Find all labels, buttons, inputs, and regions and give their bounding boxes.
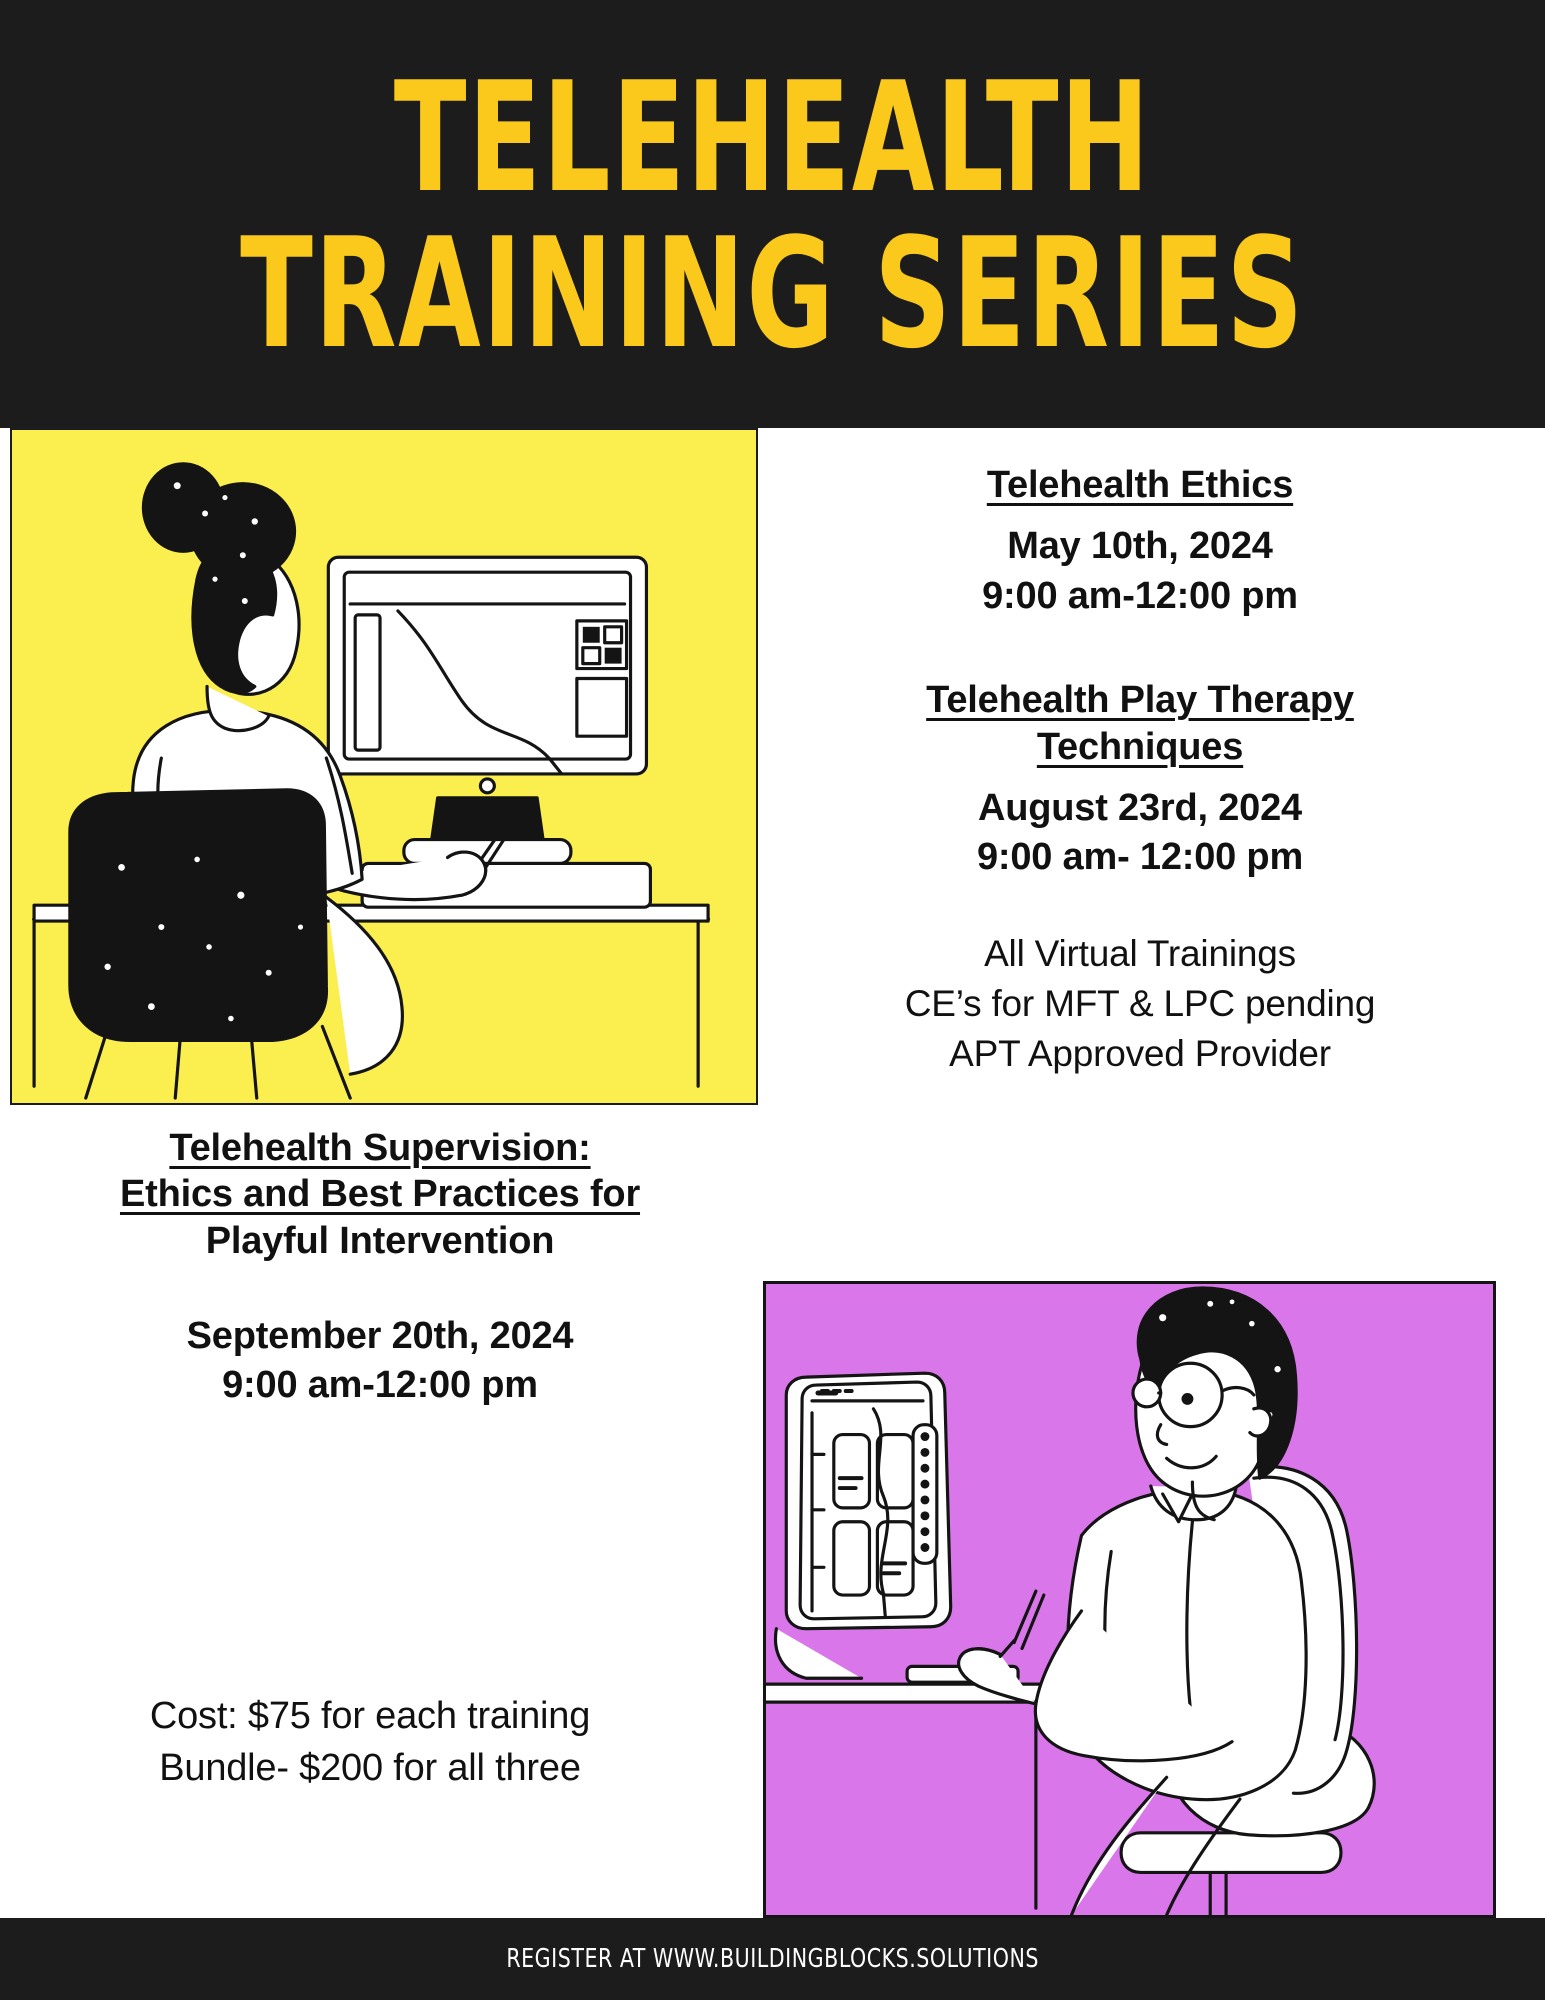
event-1-date: May 10th, 2024 (790, 522, 1490, 571)
page-title-line-1: TELEHEALTH (394, 65, 1151, 211)
event-2: Telehealth Play Therapy Techniques Augus… (790, 677, 1490, 883)
spacer (790, 883, 1490, 929)
event-3-time: 9:00 am-12:00 pm (20, 1361, 740, 1410)
spacer (790, 621, 1490, 677)
illustration-person-with-glasses-at-computer (763, 1281, 1496, 1918)
event-2-title-line-1: Telehealth Play Therapy (790, 677, 1490, 723)
event-1: Telehealth Ethics May 10th, 2024 9:00 am… (790, 462, 1490, 621)
event-2-time: 9:00 am- 12:00 pm (790, 833, 1490, 882)
event-3-block: Telehealth Supervision: Ethics and Best … (20, 1125, 740, 1411)
event-3-date: September 20th, 2024 (20, 1312, 740, 1361)
cost-bundle: Bundle- $200 for all three (20, 1742, 720, 1794)
register-url-text[interactable]: REGISTER AT WWW.BUILDINGBLOCKS.SOLUTIONS (506, 1944, 1039, 1974)
page-title-line-2: TRAINING SERIES (240, 221, 1305, 367)
cost-block: Cost: $75 for each training Bundle- $200… (20, 1690, 720, 1795)
header-banner: TELEHEALTH TRAINING SERIES (0, 0, 1545, 428)
event-3-title-line-1: Telehealth Supervision: (20, 1125, 740, 1171)
events-right-column: Telehealth Ethics May 10th, 2024 9:00 am… (790, 462, 1490, 1080)
person-at-desk-svg (766, 1284, 1493, 1915)
event-3-title-line-3: Playful Intervention (20, 1218, 740, 1264)
event-3-title-line-2: Ethics and Best Practices for (20, 1171, 740, 1217)
event-2-title-line-2: Techniques (790, 724, 1490, 770)
illustration-woman-at-desktop-computer (10, 428, 758, 1105)
training-notes: All Virtual Trainings CE’s for MFT & LPC… (790, 929, 1490, 1080)
event-2-date: August 23rd, 2024 (790, 784, 1490, 833)
event-1-title: Telehealth Ethics (790, 462, 1490, 508)
note-apt-provider: APT Approved Provider (790, 1029, 1490, 1079)
spacer (20, 1264, 740, 1298)
footer-register-bar: REGISTER AT WWW.BUILDINGBLOCKS.SOLUTIONS (0, 1918, 1545, 2000)
event-1-time: 9:00 am-12:00 pm (790, 572, 1490, 621)
woman-at-desk-svg (12, 430, 756, 1103)
note-all-virtual: All Virtual Trainings (790, 929, 1490, 979)
cost-per-training: Cost: $75 for each training (20, 1690, 720, 1742)
note-ce-pending: CE’s for MFT & LPC pending (790, 979, 1490, 1029)
